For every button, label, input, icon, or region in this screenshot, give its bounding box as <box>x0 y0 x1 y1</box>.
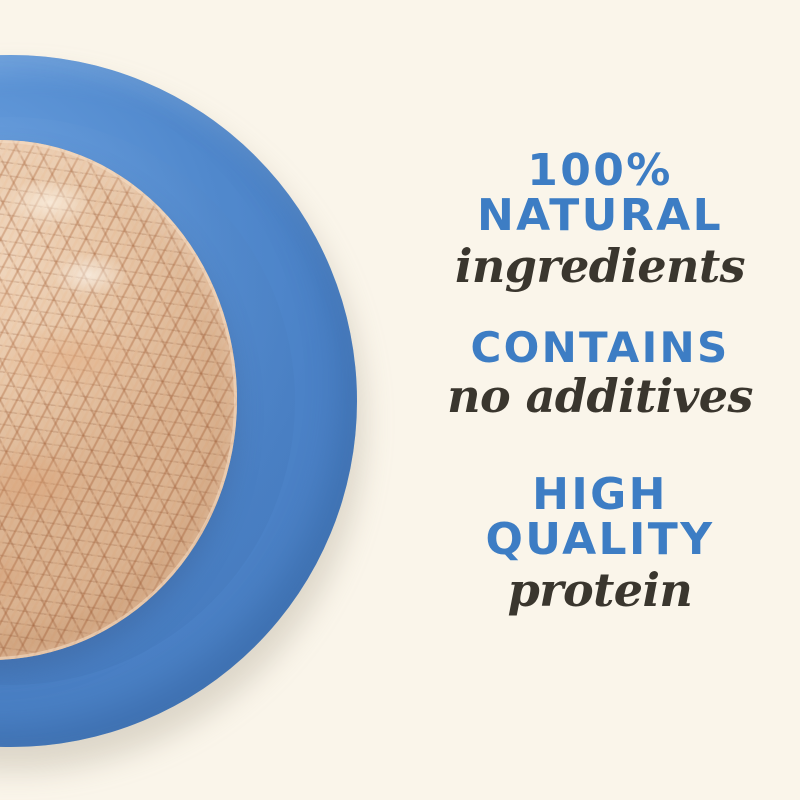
claim-additives: CONTAINS no additives <box>400 326 800 423</box>
claim-additives-script: no additives <box>400 371 800 423</box>
shredded-chicken-mound <box>0 140 237 660</box>
claim-protein-headline-line-1: HIGH <box>400 472 800 517</box>
product-claims-graphic: 100% NATURAL ingredients CONTAINS no add… <box>0 0 800 800</box>
claim-natural-script: ingredients <box>400 241 800 293</box>
claim-protein-headline-line-2: QUALITY <box>400 517 800 562</box>
claims-column: 100% NATURAL ingredients CONTAINS no add… <box>400 0 800 800</box>
food-photo-panel <box>0 0 400 800</box>
claim-natural-headline-line-1: 100% <box>400 148 800 193</box>
claim-protein-script: protein <box>400 565 800 617</box>
claim-protein: HIGH QUALITY protein <box>400 472 800 616</box>
claim-natural: 100% NATURAL ingredients <box>400 148 800 292</box>
claim-additives-headline-line-1: CONTAINS <box>400 326 800 369</box>
claim-natural-headline-line-2: NATURAL <box>400 193 800 238</box>
